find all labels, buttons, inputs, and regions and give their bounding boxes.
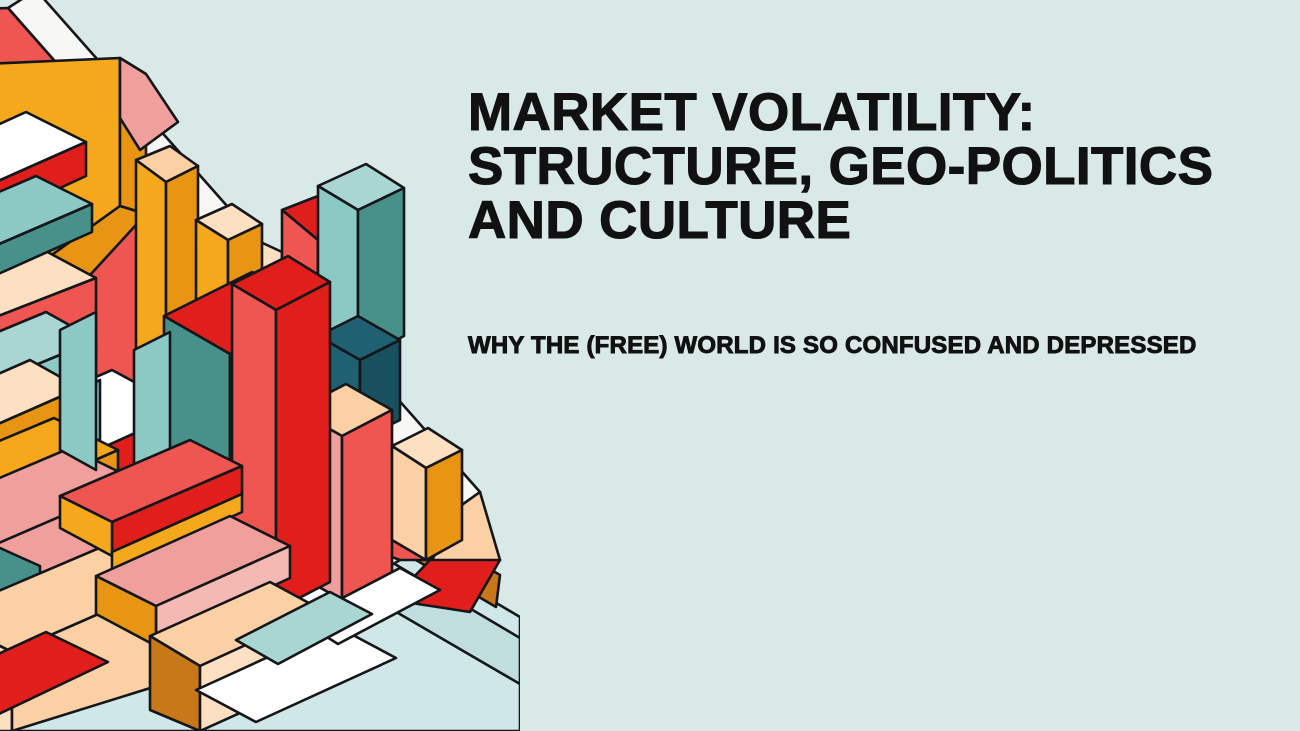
page-title: MARKET VOLATILITY: STRUCTURE, GEO-POLITI… xyxy=(468,86,1258,248)
isometric-cityscape-illustration xyxy=(0,0,520,731)
slide-subtitle: WHY THE (FREE) WORLD IS SO CONFUSED AND … xyxy=(468,329,1208,363)
slide-text-block: MARKET VOLATILITY: STRUCTURE, GEO-POLITI… xyxy=(468,86,1258,248)
title-slide: MARKET VOLATILITY: STRUCTURE, GEO-POLITI… xyxy=(0,0,1300,731)
